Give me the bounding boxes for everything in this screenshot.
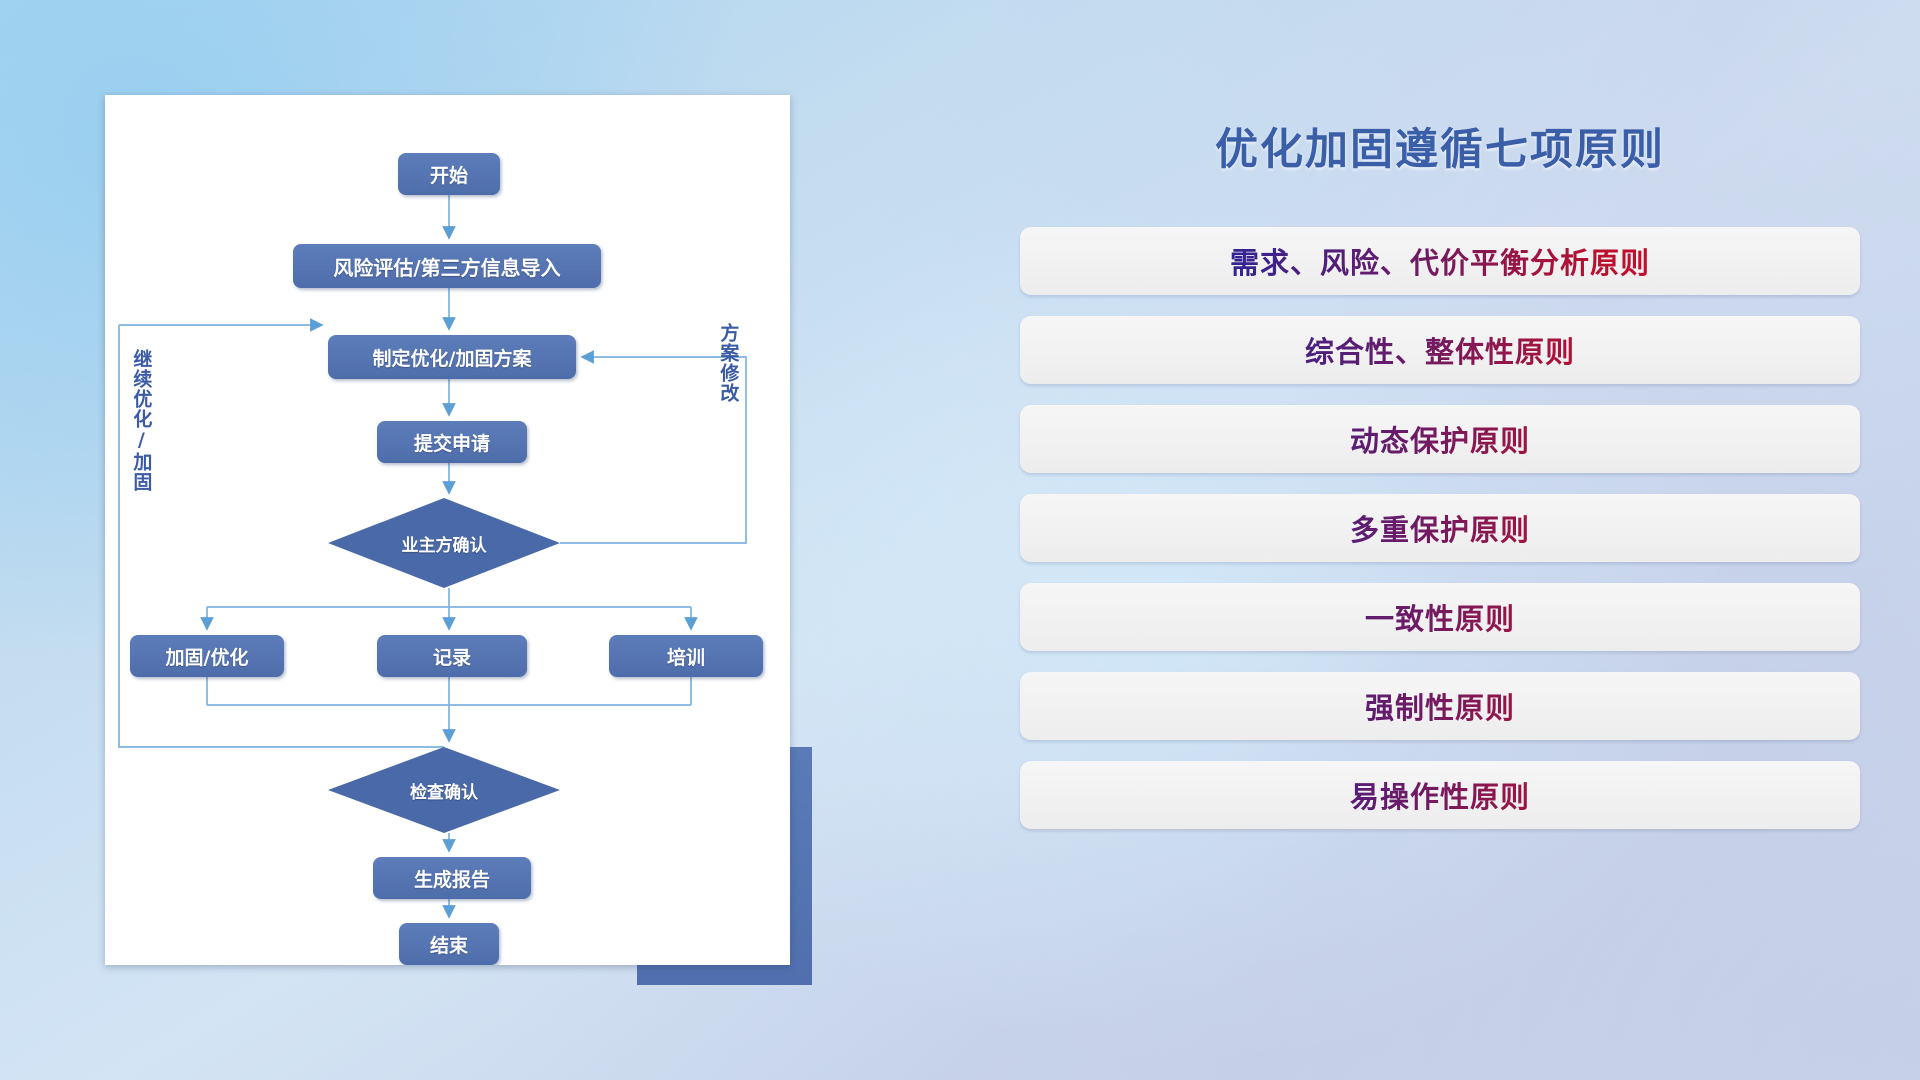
flow-node-ownerconfirm[interactable] [328, 498, 560, 588]
panel-title: 优化加固遵循七项原则 [1020, 115, 1860, 177]
principle-item[interactable]: 多重保护原则 [1020, 494, 1860, 562]
flow-node-reinforce[interactable] [130, 635, 284, 677]
principle-item[interactable]: 需求、风险、代价平衡分析原则 [1020, 227, 1860, 295]
principle-label: 一致性原则 [1020, 583, 1860, 651]
flow-edge-label-right-loop: 方案修改 [718, 323, 737, 403]
flow-node-report[interactable] [373, 857, 531, 899]
principle-label: 需求、风险、代价平衡分析原则 [1020, 227, 1860, 295]
principle-item[interactable]: 动态保护原则 [1020, 405, 1860, 473]
principle-item[interactable]: 一致性原则 [1020, 583, 1860, 651]
flow-node-end[interactable] [399, 923, 499, 965]
flow-node-check[interactable] [328, 747, 560, 833]
principle-label: 多重保护原则 [1020, 494, 1860, 562]
principle-label: 强制性原则 [1020, 672, 1860, 740]
principle-item[interactable]: 强制性原则 [1020, 672, 1860, 740]
principle-label: 易操作性原则 [1020, 761, 1860, 829]
flow-node-plan[interactable] [328, 335, 576, 379]
flow-node-risk[interactable] [293, 244, 601, 288]
principle-item[interactable]: 易操作性原则 [1020, 761, 1860, 829]
flow-node-shapes [130, 153, 763, 965]
flow-node-training[interactable] [609, 635, 763, 677]
principle-label: 动态保护原则 [1020, 405, 1860, 473]
principle-label: 综合性、整体性原则 [1020, 316, 1860, 384]
principle-item[interactable]: 综合性、整体性原则 [1020, 316, 1860, 384]
flow-node-start[interactable] [398, 153, 500, 195]
flowchart-card: 开始风险评估/第三方信息导入制定优化/加固方案提交申请业主方确认加固/优化记录培… [105, 95, 790, 965]
flow-edge-label-left-loop: 继续优化/加固 [131, 349, 150, 492]
flow-node-submit[interactable] [377, 421, 527, 463]
flow-node-record[interactable] [377, 635, 527, 677]
principles-list: 需求、风险、代价平衡分析原则综合性、整体性原则动态保护原则多重保护原则一致性原则… [1020, 227, 1860, 850]
principles-panel: 优化加固遵循七项原则 需求、风险、代价平衡分析原则综合性、整体性原则动态保护原则… [1020, 95, 1860, 995]
flowchart-diagram [105, 95, 790, 965]
